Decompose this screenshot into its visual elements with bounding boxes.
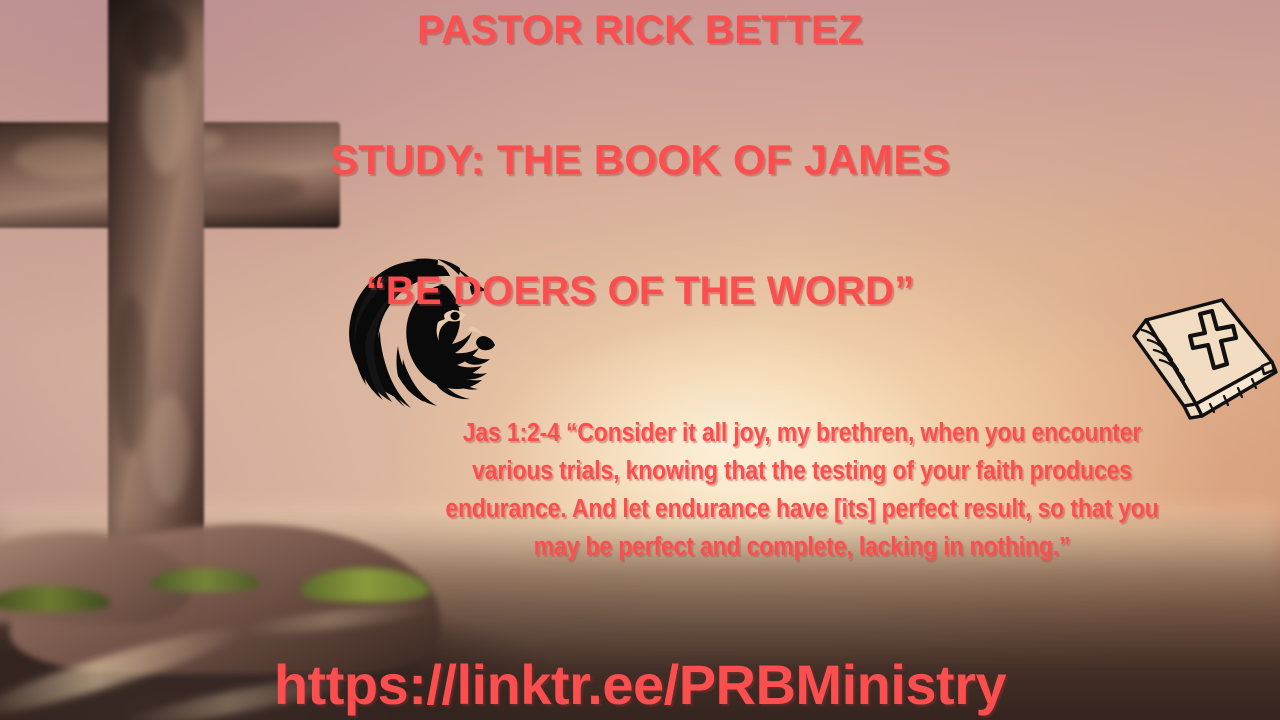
- sermon-theme-title: “BE DOERS OF THE WORD”: [0, 266, 1280, 316]
- sermon-slide: PASTOR RICK BETTEZ STUDY: THE BOOK OF JA…: [0, 0, 1280, 720]
- study-series-title: STUDY: THE BOOK OF JAMES: [0, 134, 1280, 186]
- scripture-line: Jas 1:2-4 “Consider it all joy, my breth…: [393, 414, 1210, 452]
- ministry-link-url[interactable]: https://linktr.ee/PRBMinistry: [0, 652, 1280, 718]
- scripture-line: may be perfect and complete, lacking in …: [393, 528, 1210, 566]
- scripture-passage: Jas 1:2-4 “Consider it all joy, my breth…: [393, 414, 1210, 566]
- scripture-line: various trials, knowing that the testing…: [393, 452, 1210, 490]
- cross-upright-highlight-2: [148, 394, 190, 504]
- cross-upright-shadow: [114, 294, 148, 454]
- scripture-line: endurance. And let endurance have [its] …: [393, 490, 1210, 528]
- page-title-pastor-name: PASTOR RICK BETTEZ: [0, 6, 1280, 54]
